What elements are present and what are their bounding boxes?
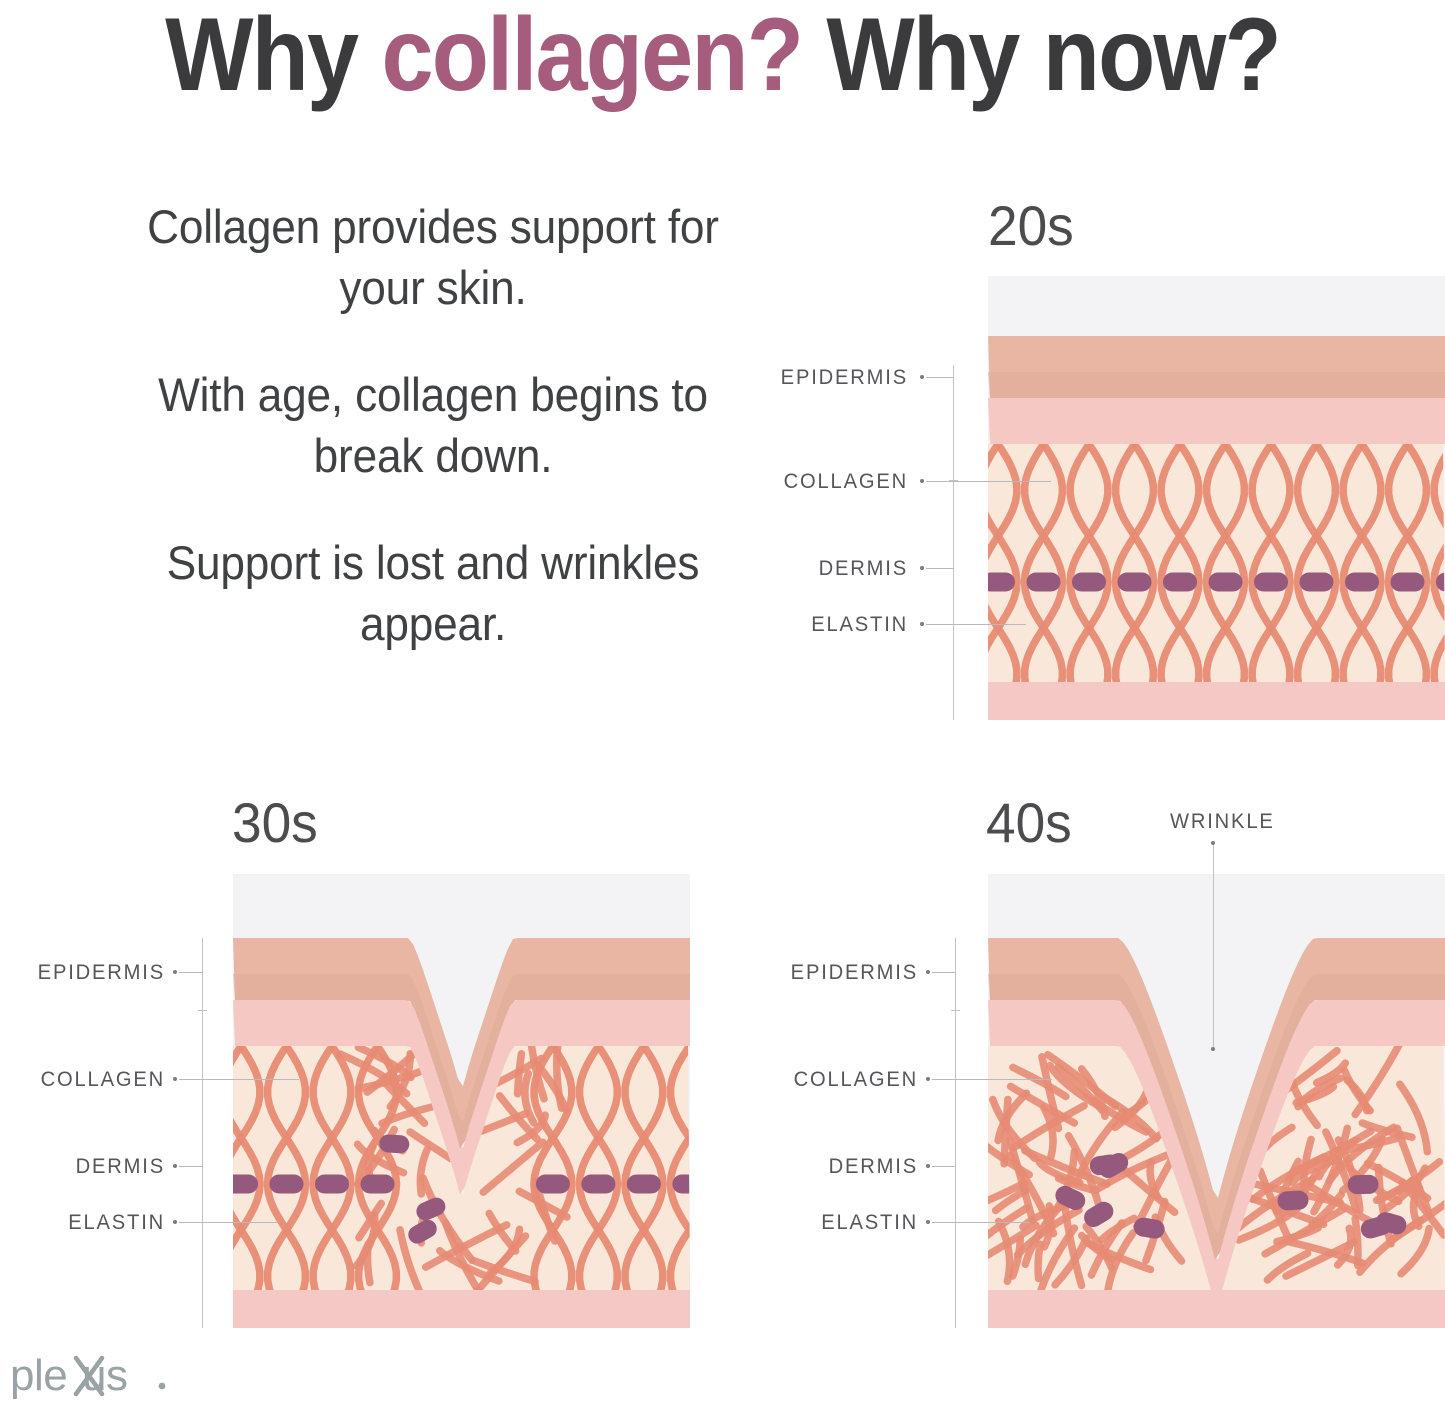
label-collagen-40s: COLLAGEN	[726, 1068, 918, 1092]
leader-elastin-40s	[932, 1222, 1030, 1223]
label-dot-collagen-40s	[926, 1077, 930, 1081]
label-dot-elastin-40s	[926, 1220, 930, 1224]
label-dot-epidermis-40s	[926, 970, 930, 974]
plexus-wordmark-icon: ple us	[10, 1352, 175, 1404]
label-epidermis-40s: EPIDERMIS	[726, 961, 918, 985]
plexus-logo: ple us	[10, 1352, 175, 1409]
leader-dermis-40s	[932, 1166, 956, 1167]
bracket-line-40s	[955, 938, 956, 1328]
skin-diagram-40s	[988, 874, 1445, 1328]
panel-40s-heading: 40s	[986, 790, 1072, 855]
leader-epidermis-40s	[932, 972, 956, 973]
svg-text:ple: ple	[10, 1352, 67, 1400]
label-wrinkle-40s: WRINKLE	[1170, 810, 1362, 834]
panel-40s: 40s EPIDERMIS COLLAGEN DERMIS ELASTIN WR…	[0, 0, 1445, 1411]
label-dot-wrinkle-tip-40s	[1211, 1047, 1215, 1051]
leader-wrinkle-40s	[1213, 845, 1214, 1050]
leader-collagen-40s	[932, 1079, 1052, 1080]
label-dot-wrinkle-top-40s	[1211, 841, 1215, 845]
label-elastin-40s: ELASTIN	[726, 1211, 918, 1235]
label-dot-dermis-40s	[926, 1164, 930, 1168]
label-dermis-40s: DERMIS	[726, 1155, 918, 1179]
bracket-tick-40s	[951, 1010, 960, 1011]
